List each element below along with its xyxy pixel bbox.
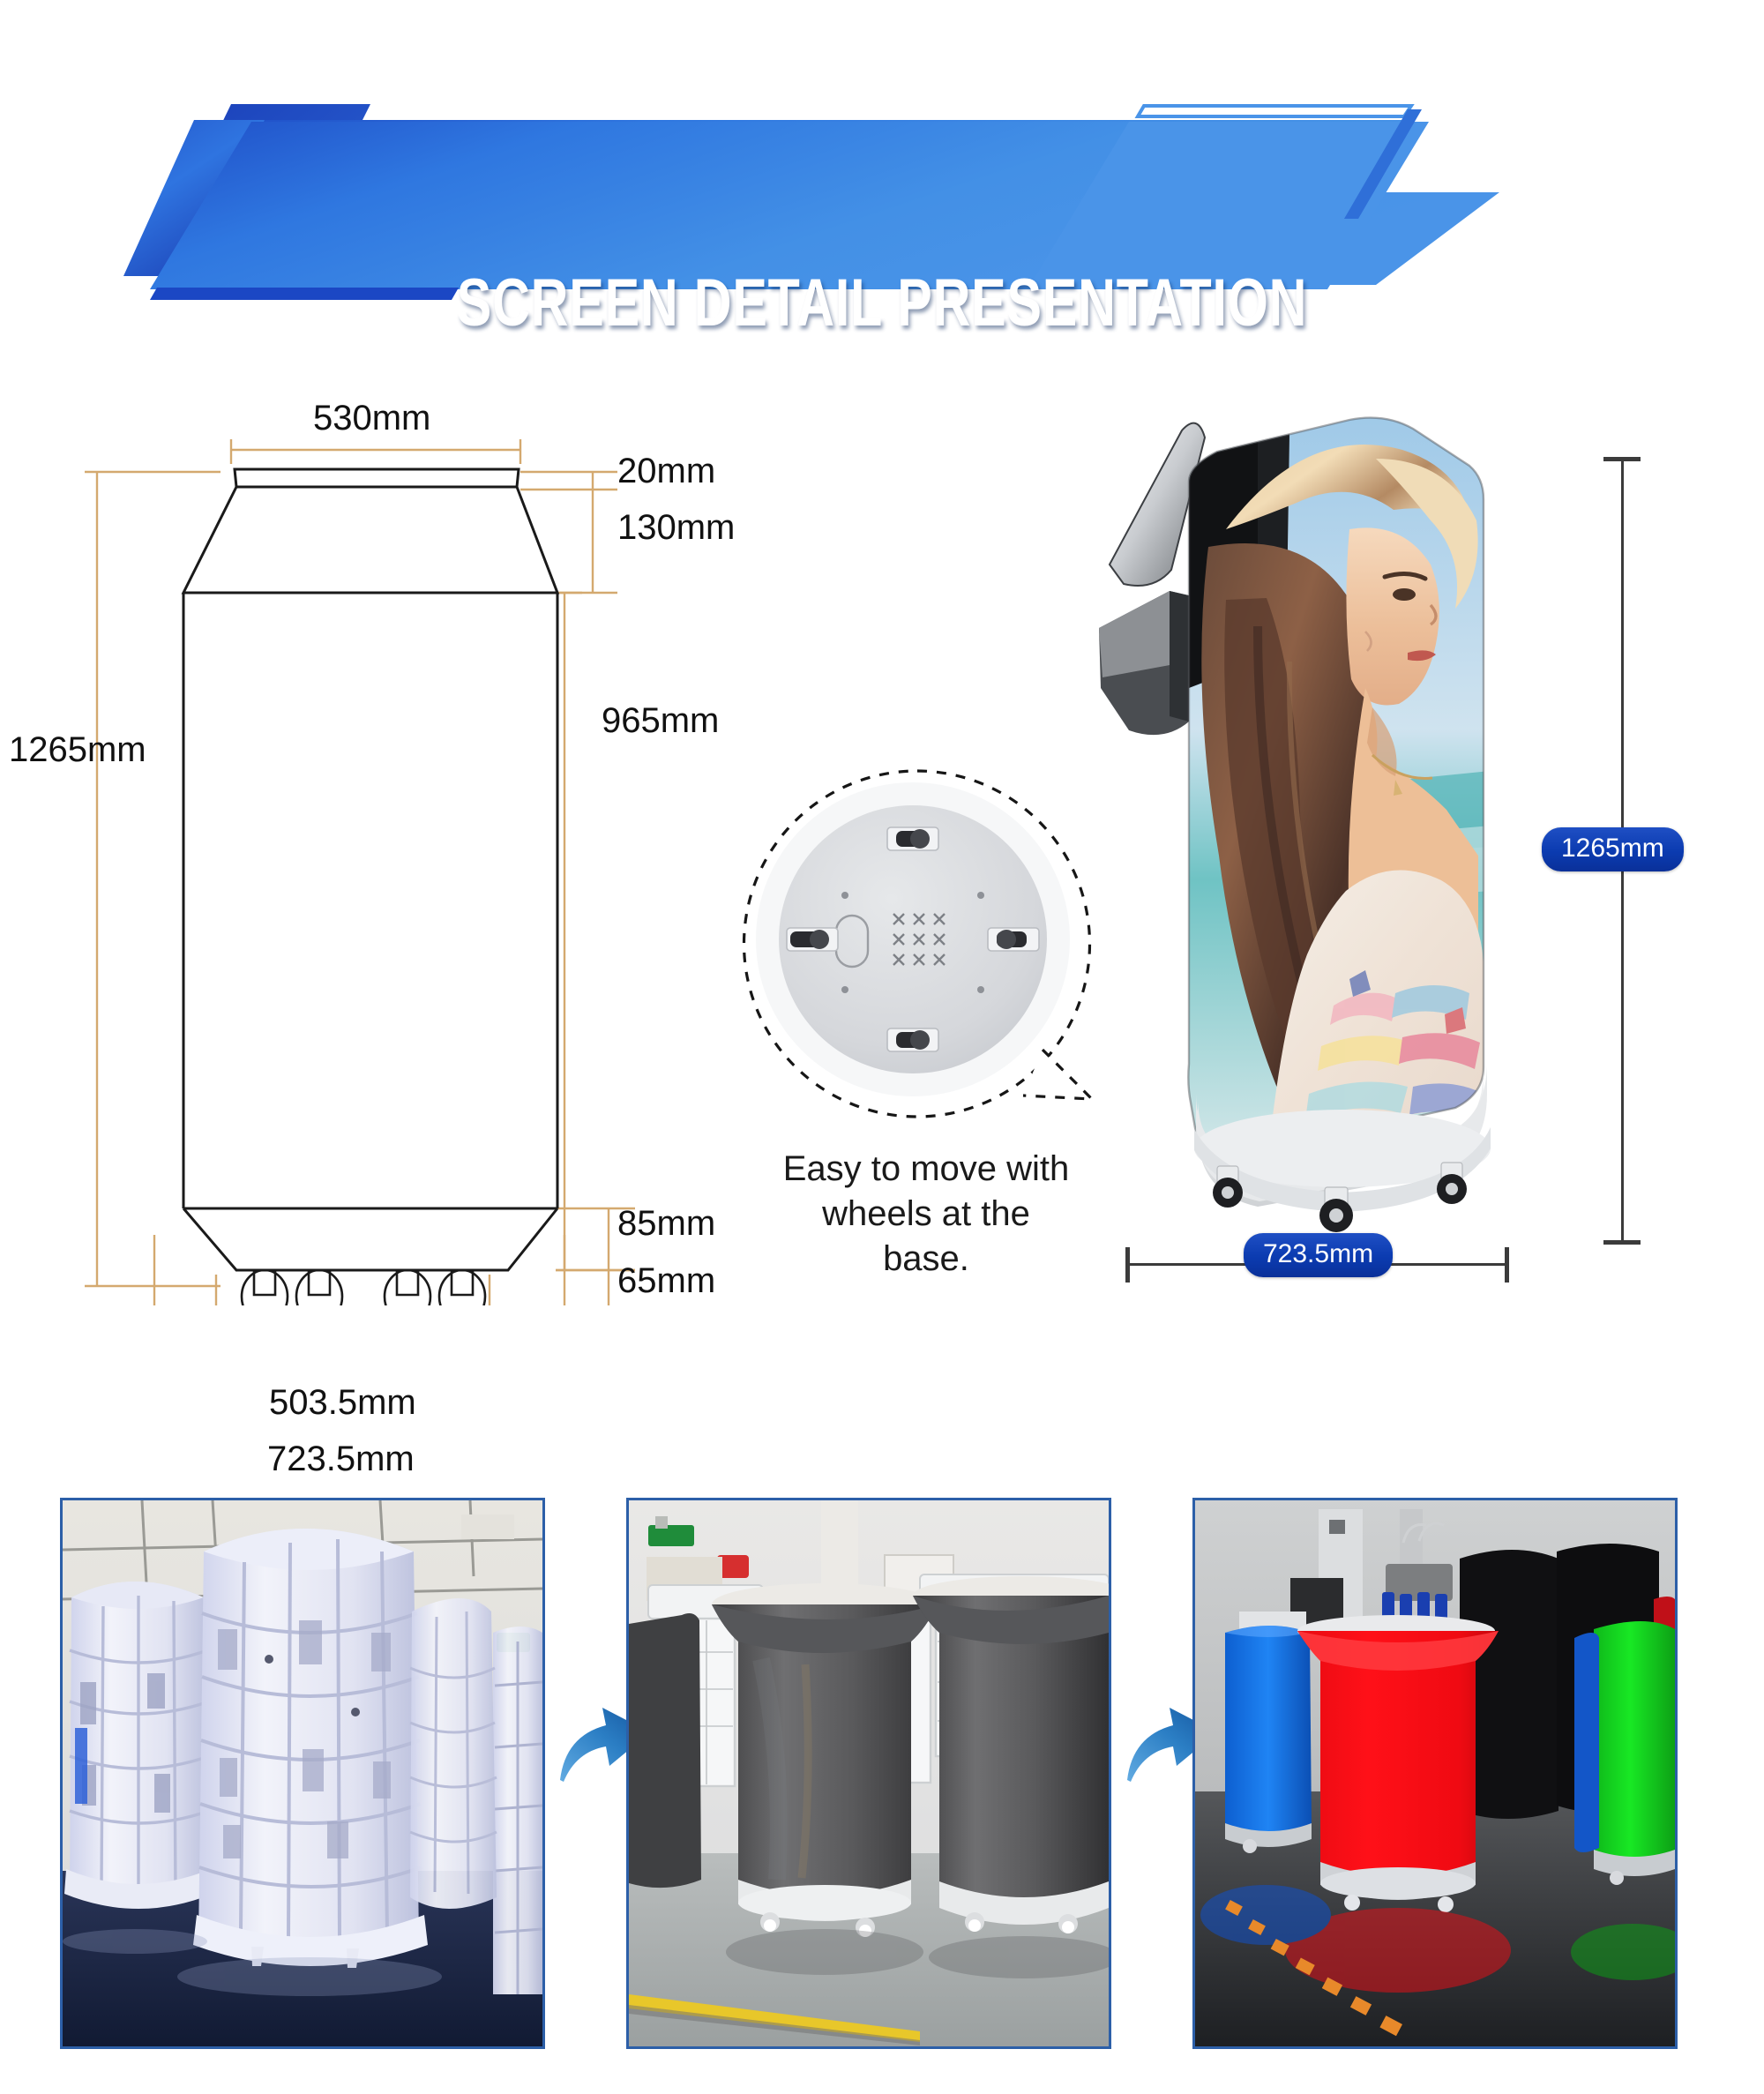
base-detail-callout bbox=[732, 759, 1102, 1129]
photo-rgb-test bbox=[1192, 1498, 1678, 2049]
dim-top-width: 530mm bbox=[313, 399, 430, 438]
badge-height: 1265mm bbox=[1542, 827, 1684, 871]
dim-wheel-height: 65mm bbox=[617, 1261, 715, 1301]
product-render bbox=[1085, 397, 1543, 1235]
width-dim-tick-right bbox=[1505, 1247, 1509, 1283]
dim-total-height: 1265mm bbox=[9, 730, 146, 770]
dim-bottom-taper-height: 85mm bbox=[617, 1204, 715, 1244]
caption-line-2: wheels at the base. bbox=[776, 1192, 1076, 1282]
header-banner: SCREEN DETAIL PRESENTATION bbox=[0, 104, 1764, 307]
badge-width: 723.5mm bbox=[1244, 1233, 1393, 1277]
photo-white-frames bbox=[60, 1498, 545, 2049]
height-dim-tick-top bbox=[1603, 457, 1641, 461]
dim-wheel-track-width: 503.5mm bbox=[269, 1383, 416, 1423]
width-dim-tick-left bbox=[1125, 1247, 1130, 1283]
caption-line-1: Easy to move with bbox=[776, 1147, 1076, 1192]
dim-top-taper-height: 130mm bbox=[617, 508, 735, 548]
photo-dark-cylinders bbox=[626, 1498, 1111, 2049]
dim-top-cap-height: 20mm bbox=[617, 452, 715, 491]
product-detail-page: SCREEN DETAIL PRESENTATION bbox=[0, 0, 1764, 2094]
led-screen-surface bbox=[1182, 415, 1491, 1164]
technical-drawing: 530mm 20mm 130mm 965mm 1265mm 85mm 65mm … bbox=[0, 388, 776, 1305]
base-callout-caption: Easy to move with wheels at the base. bbox=[776, 1147, 1076, 1283]
height-dim-tick-bottom bbox=[1603, 1240, 1641, 1245]
process-photo-row bbox=[0, 1498, 1764, 2053]
dim-body-height: 965mm bbox=[602, 701, 719, 741]
dim-base-width: 723.5mm bbox=[267, 1440, 415, 1479]
